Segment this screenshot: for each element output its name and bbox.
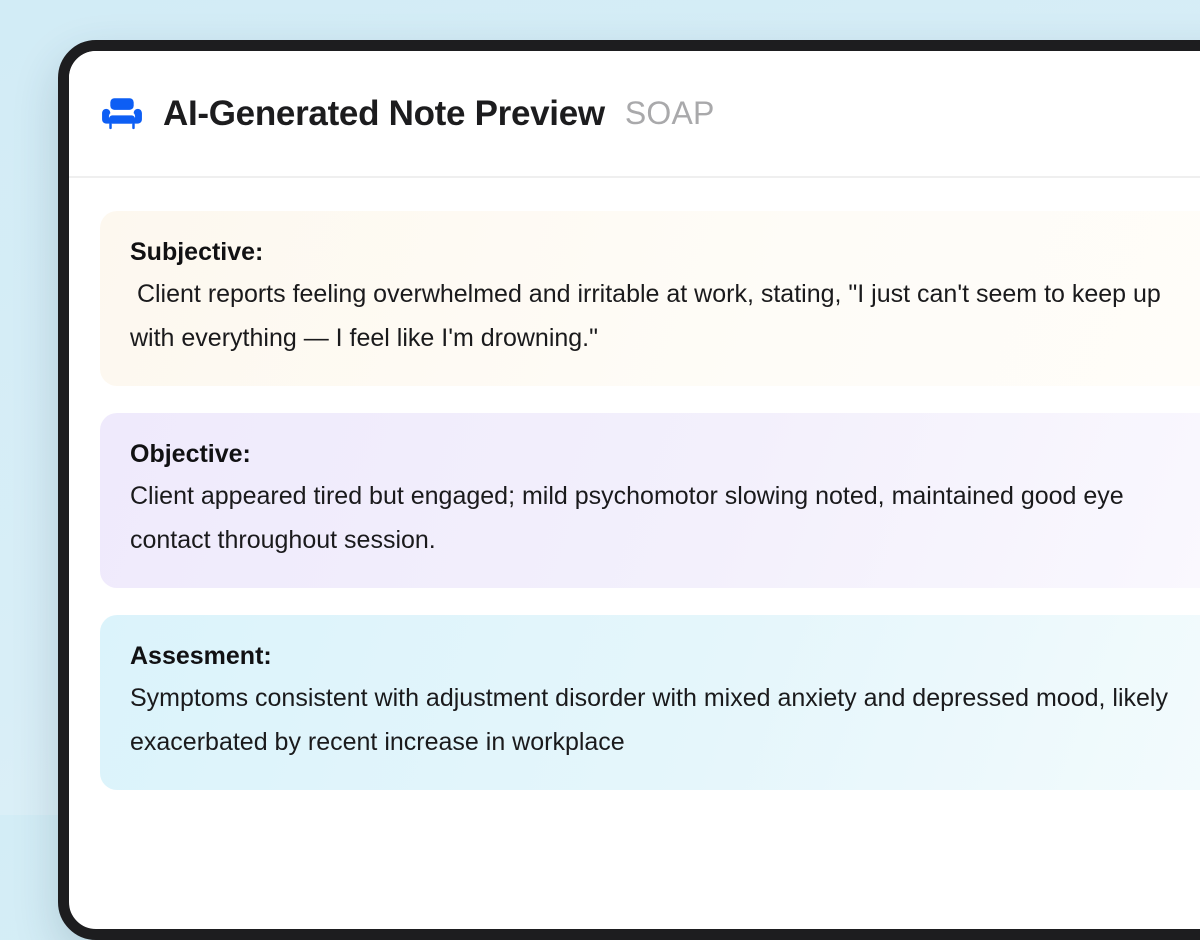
section-text-objective: Client appeared tired but engaged; mild … bbox=[130, 474, 1190, 563]
note-section-subjective[interactable]: Subjective: Client reports feeling overw… bbox=[100, 211, 1200, 386]
device-frame: AI-Generated Note Preview SOAP Subjectiv… bbox=[58, 40, 1200, 940]
section-label-subjective: Subjective: bbox=[130, 236, 1190, 270]
note-section-objective[interactable]: Objective: Client appeared tired but eng… bbox=[100, 413, 1200, 588]
note-preview-header: AI-Generated Note Preview SOAP bbox=[69, 51, 1200, 178]
section-label-assessment: Assesment: bbox=[130, 640, 1190, 674]
section-text-assessment: Symptoms consistent with adjustment diso… bbox=[130, 676, 1190, 765]
note-section-assessment[interactable]: Assesment: Symptoms consistent with adju… bbox=[100, 615, 1200, 790]
armchair-icon bbox=[100, 92, 144, 136]
note-format-badge: SOAP bbox=[625, 95, 715, 132]
section-text-subjective: Client reports feeling overwhelmed and i… bbox=[130, 272, 1190, 361]
note-sections-list: Subjective: Client reports feeling overw… bbox=[69, 178, 1200, 790]
page-title: AI-Generated Note Preview bbox=[163, 94, 605, 134]
section-label-objective: Objective: bbox=[130, 438, 1190, 472]
